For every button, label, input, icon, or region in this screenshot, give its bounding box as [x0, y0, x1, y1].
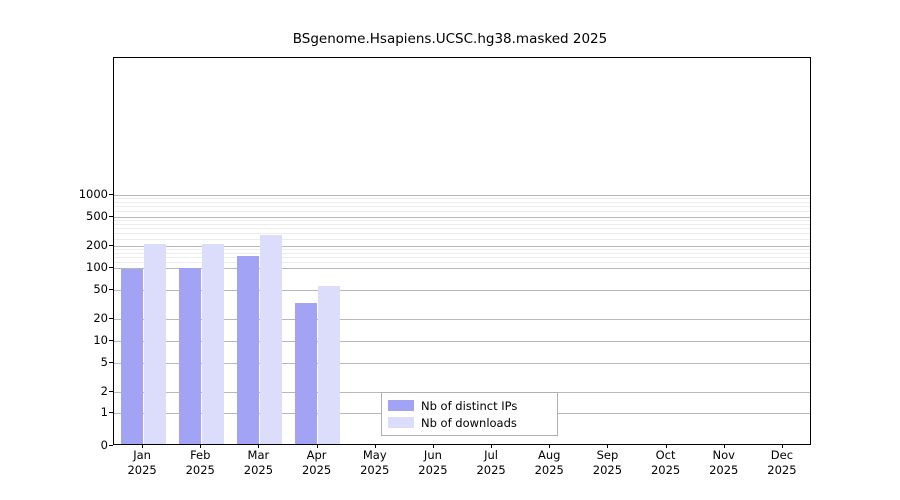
bar-group [114, 58, 810, 444]
x-axis-tick-label: Mar2025 [244, 448, 273, 478]
bar-distinct-ips [121, 269, 143, 444]
y-axis-tick-label: 100 [86, 260, 108, 274]
x-axis-label-month: Apr [307, 448, 327, 462]
bar-distinct-ips [179, 268, 201, 444]
x-axis-label-month: Sep [597, 448, 619, 462]
x-axis-label-month: Nov [713, 448, 735, 462]
chart-title: BSgenome.Hsapiens.UCSC.hg38.masked 2025 [0, 31, 900, 47]
x-axis-tick-labels: Jan2025Feb2025Mar2025Apr2025May2025Jun20… [113, 448, 811, 492]
x-axis-label-year: 2025 [418, 463, 447, 478]
legend-swatch-ips [388, 400, 414, 411]
x-axis-label-year: 2025 [302, 463, 331, 478]
y-axis-tick-labels: 01251020501002005001000 [56, 57, 108, 445]
x-axis-label-month: Jul [484, 448, 498, 462]
y-axis-tick-label: 1 [101, 405, 108, 419]
x-axis-label-year: 2025 [244, 463, 273, 478]
x-axis-label-month: Oct [656, 448, 676, 462]
x-axis-tick-label: Sep2025 [593, 448, 622, 478]
bar-downloads [202, 244, 224, 444]
x-axis-tick-label: Apr2025 [302, 448, 331, 478]
y-axis-tick-label: 20 [93, 311, 108, 325]
y-axis-tick-label: 0 [101, 438, 108, 452]
x-axis-label-month: Feb [190, 448, 210, 462]
x-axis-label-year: 2025 [767, 463, 796, 478]
x-axis-label-month: Jan [133, 448, 151, 462]
x-axis-label-month: Dec [771, 448, 793, 462]
x-axis-label-year: 2025 [709, 463, 738, 478]
x-axis-tick-label: Dec2025 [767, 448, 796, 478]
y-axis-tick-label: 500 [86, 209, 108, 223]
legend-swatch-downloads [388, 417, 414, 428]
x-axis-label-month: Aug [538, 448, 560, 462]
legend-item: Nb of downloads [388, 414, 551, 431]
y-axis-tick-label: 2 [101, 384, 108, 398]
x-axis-tick-label: Jun2025 [418, 448, 447, 478]
bar-downloads [260, 235, 282, 444]
legend-item: Nb of distinct IPs [388, 397, 551, 414]
x-axis-tick-label: Oct2025 [651, 448, 680, 478]
chart-container: BSgenome.Hsapiens.UCSC.hg38.masked 2025 … [0, 0, 900, 500]
x-axis-tick-label: Jan2025 [127, 448, 156, 478]
x-axis-label-year: 2025 [186, 463, 215, 478]
x-axis-tick-label: Jul2025 [476, 448, 505, 478]
x-axis-label-year: 2025 [127, 463, 156, 478]
x-axis-label-month: Mar [248, 448, 270, 462]
y-axis-tick-label: 50 [93, 282, 108, 296]
bar-distinct-ips [295, 303, 317, 444]
y-axis-tick-label: 200 [86, 238, 108, 252]
x-axis-tick-label: May2025 [360, 448, 389, 478]
x-axis-label-year: 2025 [593, 463, 622, 478]
x-axis-label-year: 2025 [535, 463, 564, 478]
legend-label-downloads: Nb of downloads [421, 416, 517, 430]
x-axis-label-month: May [363, 448, 387, 462]
y-axis-tick-label: 5 [101, 355, 108, 369]
x-axis-label-year: 2025 [360, 463, 389, 478]
x-axis-label-year: 2025 [476, 463, 505, 478]
y-axis-tick-label: 1000 [79, 187, 108, 201]
y-axis-tick-label: 10 [93, 333, 108, 347]
legend: Nb of distinct IPs Nb of downloads [381, 392, 558, 436]
bar-distinct-ips [237, 256, 259, 444]
x-axis-label-month: Jun [424, 448, 442, 462]
x-axis-tick-label: Nov2025 [709, 448, 738, 478]
bar-downloads [318, 286, 340, 444]
x-axis-tick-label: Feb2025 [186, 448, 215, 478]
x-axis-tick-label: Aug2025 [535, 448, 564, 478]
plot-area [113, 57, 811, 445]
x-axis-label-year: 2025 [651, 463, 680, 478]
bar-downloads [144, 244, 166, 444]
legend-label-ips: Nb of distinct IPs [421, 399, 517, 413]
